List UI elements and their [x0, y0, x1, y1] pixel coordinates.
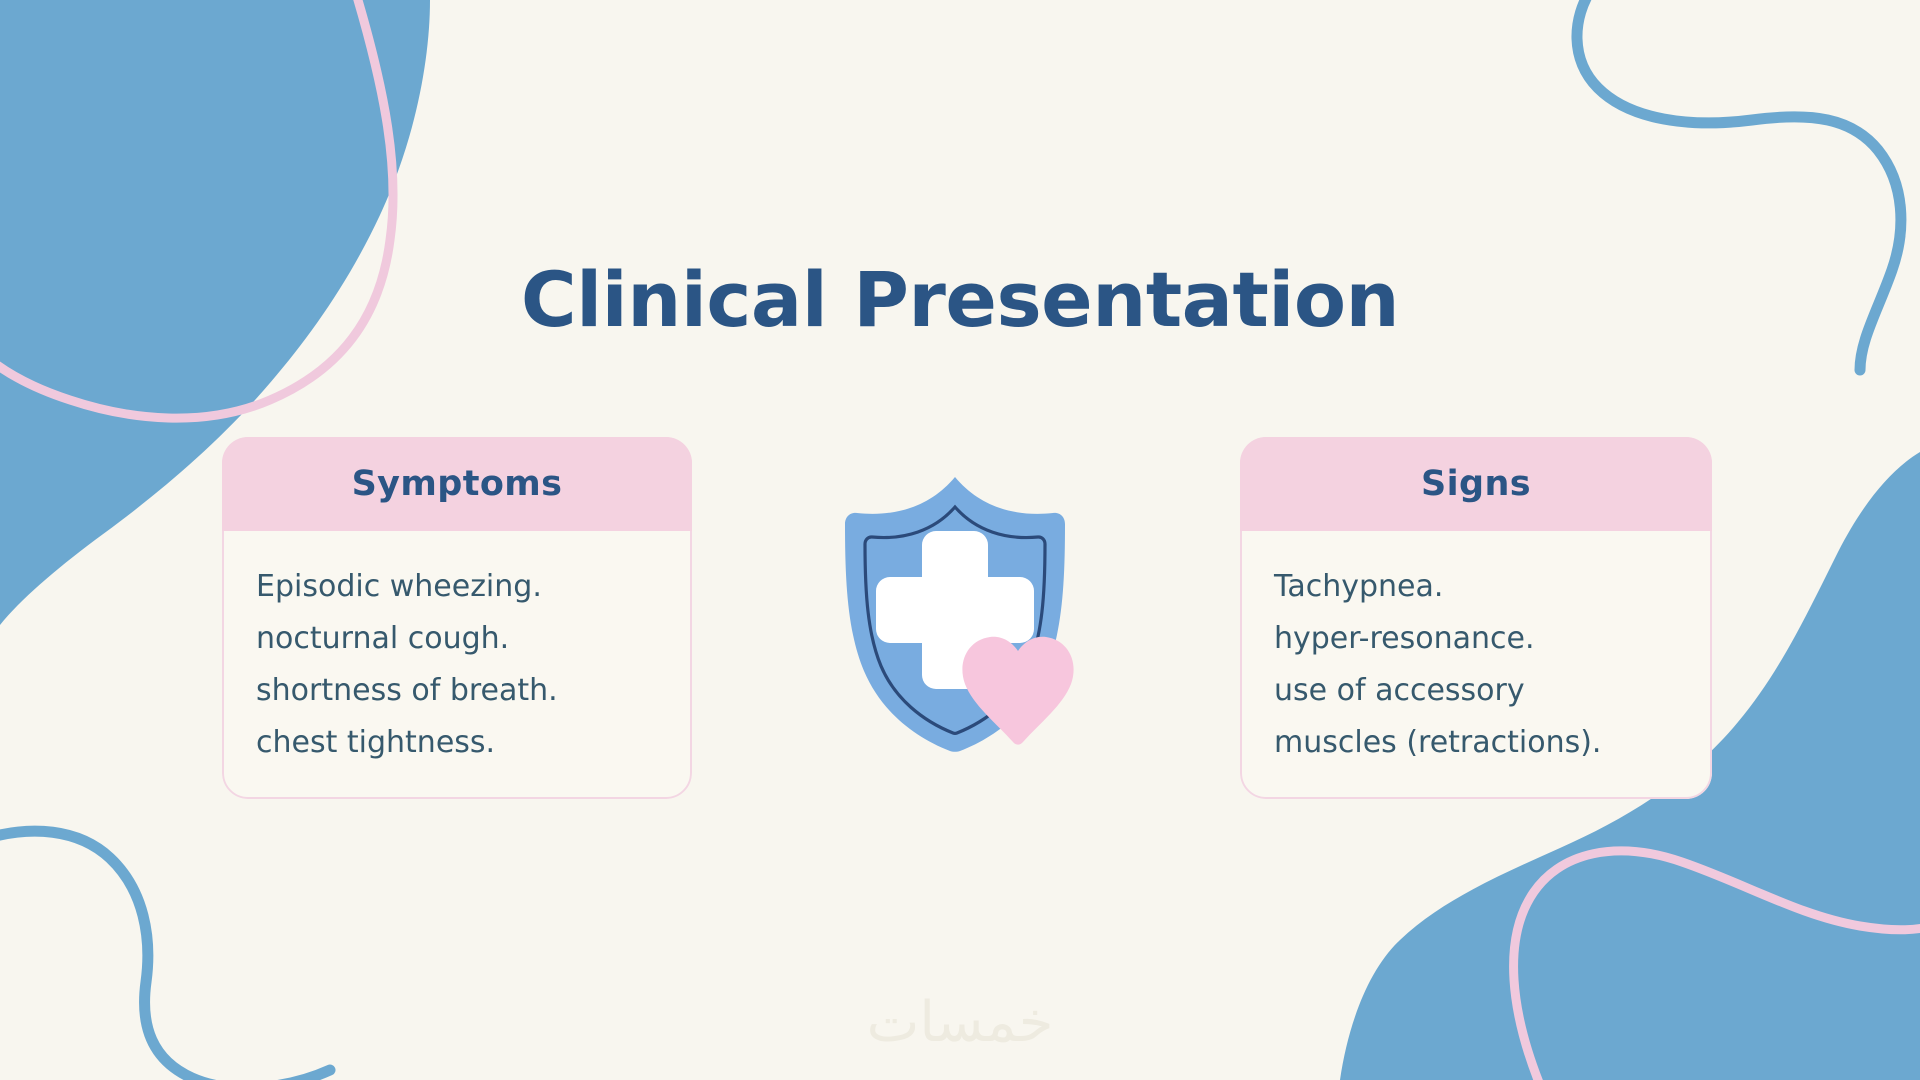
card-signs-header-label: Signs — [1421, 464, 1531, 504]
card-symptoms-line: shortness of breath. — [256, 665, 692, 717]
watermark: خمسات — [0, 990, 1920, 1055]
card-symptoms-line: chest tightness. — [256, 717, 692, 769]
card-symptoms-header-label: Symptoms — [352, 464, 563, 504]
card-signs-line: hyper-resonance. — [1274, 613, 1712, 665]
medical-shield-icon — [810, 465, 1100, 755]
card-signs: Signs Tachypnea. hyper-resonance. use of… — [1240, 437, 1712, 799]
card-symptoms-header: Symptoms — [222, 437, 692, 531]
card-signs-line: muscles (retractions). — [1274, 717, 1712, 769]
card-symptoms-line: nocturnal cough. — [256, 613, 692, 665]
card-symptoms-line: Episodic wheezing. — [256, 561, 692, 613]
card-signs-line: Tachypnea. — [1274, 561, 1712, 613]
card-signs-line: use of accessory — [1274, 665, 1712, 717]
card-signs-body: Tachypnea. hyper-resonance. use of acces… — [1240, 531, 1712, 789]
card-signs-header: Signs — [1240, 437, 1712, 531]
card-symptoms-body: Episodic wheezing. nocturnal cough. shor… — [222, 531, 692, 789]
page-title: Clinical Presentation — [0, 262, 1920, 338]
pink-curve-top-left — [0, 0, 393, 418]
slide-canvas: Clinical Presentation Symptoms Episodic … — [0, 0, 1920, 1080]
card-symptoms: Symptoms Episodic wheezing. nocturnal co… — [222, 437, 692, 799]
